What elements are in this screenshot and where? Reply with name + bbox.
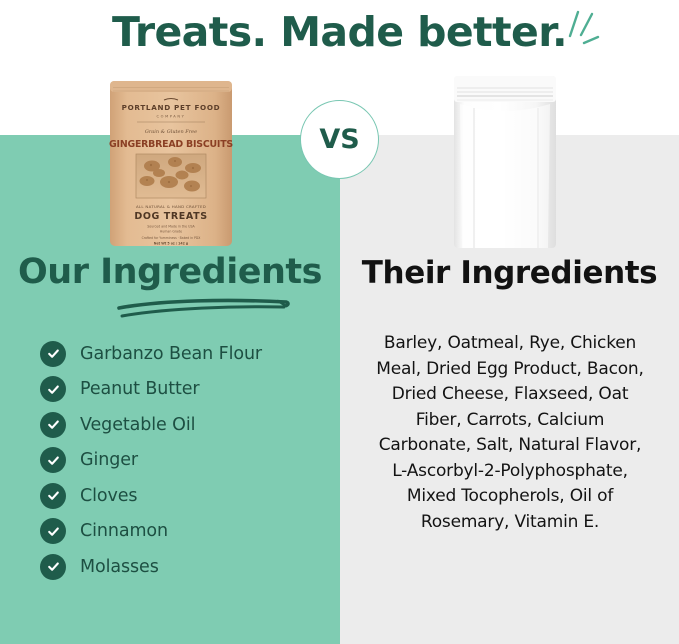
list-item-label: Peanut Butter [80,379,200,399]
check-circle-icon [40,483,66,509]
list-item: Ginger [40,443,330,479]
pouch-claim: ALL NATURAL & HAND CRAFTED [136,204,206,209]
our-ingredients-heading: Our Ingredients [0,252,340,292]
check-circle-icon [40,518,66,544]
check-circle-icon [40,376,66,402]
list-item: Molasses [40,549,330,585]
list-item-label: Molasses [80,557,159,577]
check-circle-icon [40,554,66,580]
our-ingredients-list: Garbanzo Bean Flour Peanut Butter Vegeta… [40,336,330,585]
list-item: Garbanzo Bean Flour [40,336,330,372]
check-circle-icon [40,341,66,367]
list-item-label: Ginger [80,450,138,470]
hand-drawn-underline-icon [110,292,295,324]
sparkle-accent-icon [548,4,608,56]
their-ingredients-heading: Their Ingredients [340,255,679,291]
their-ingredients-text: Barley, Oatmeal, Rye, Chicken Meal, Drie… [374,331,646,535]
pouch-sub-line-3: Crafted for Yumminess · Baked in PDX [142,236,202,240]
pouch-brand-line-1: PORTLAND PET FOOD [122,103,221,112]
pouch-category: DOG TREATS [134,211,207,222]
check-circle-icon [40,447,66,473]
list-item: Cloves [40,478,330,514]
list-item: Peanut Butter [40,372,330,408]
list-item: Cinnamon [40,514,330,550]
list-item-label: Garbanzo Bean Flour [80,344,262,364]
pouch-brand-line-2: COMPANY [157,115,186,119]
our-product-pouch-image: PORTLAND PET FOOD COMPANY Grain & Gluten… [107,78,235,248]
pouch-sub-line-2: Human Grade [160,230,182,234]
their-product-pouch-image [452,74,558,250]
pouch-sub-line-1: Sourced and Made in the USA [147,225,195,229]
check-circle-icon [40,412,66,438]
pouch-net-weight: Net Wt 5 oz / 142 g [154,242,189,246]
list-item-label: Cloves [80,486,137,506]
list-item-label: Cinnamon [80,521,168,541]
comparison-infographic: Treats. Made better. [0,0,679,644]
pouch-tagline: Grain & Gluten Free [145,129,197,135]
vs-label: VS [319,124,359,155]
vs-badge: VS [300,100,379,179]
list-item-label: Vegetable Oil [80,415,195,435]
pouch-product-name: GINGERBREAD BISCUITS [109,139,233,150]
list-item: Vegetable Oil [40,407,330,443]
